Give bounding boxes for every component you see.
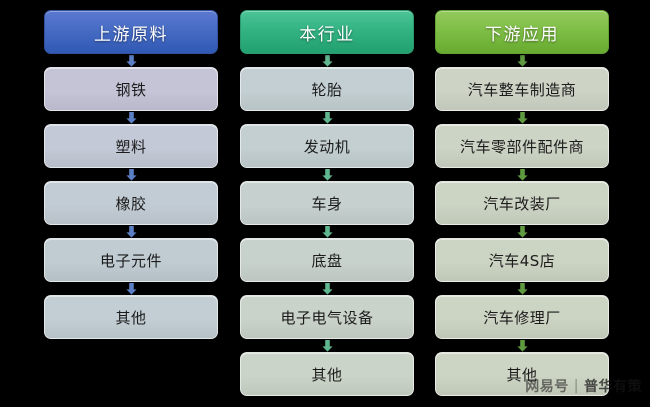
chain-node[interactable]: 汽车修理厂 bbox=[435, 295, 609, 339]
chain-node[interactable]: 电子电气设备 bbox=[240, 295, 414, 339]
chain-node-label: 汽车整车制造商 bbox=[468, 79, 577, 100]
flow-arrow-down-icon bbox=[240, 54, 414, 67]
flow-arrow-down-icon bbox=[44, 282, 218, 295]
chain-node-label: 发动机 bbox=[304, 136, 351, 157]
chain-node[interactable]: 汽车整车制造商 bbox=[435, 67, 609, 111]
chain-node[interactable]: 其他 bbox=[44, 295, 218, 339]
flow-arrow-down-icon bbox=[435, 54, 609, 67]
flow-arrow-down-icon bbox=[44, 111, 218, 124]
chain-node-label: 汽车修理厂 bbox=[483, 307, 561, 328]
flow-arrow-down-icon bbox=[240, 339, 414, 352]
column-header-label: 下游应用 bbox=[485, 20, 559, 45]
chain-node[interactable]: 电子元件 bbox=[44, 238, 218, 282]
chain-node-label: 汽车零部件配件商 bbox=[460, 136, 584, 157]
flow-arrow-down-icon bbox=[435, 225, 609, 238]
flow-arrow-down-icon bbox=[44, 54, 218, 67]
flow-arrow-down-icon bbox=[44, 168, 218, 181]
chain-node-label: 橡胶 bbox=[115, 193, 146, 214]
chain-column-industry: 本行业轮胎发动机车身底盘电子电气设备其他 bbox=[240, 0, 414, 396]
chain-node-label: 电子元件 bbox=[100, 250, 162, 271]
chain-node-label: 塑料 bbox=[115, 136, 146, 157]
flow-arrow-down-icon bbox=[240, 168, 414, 181]
chain-node[interactable]: 轮胎 bbox=[240, 67, 414, 111]
chain-node[interactable]: 塑料 bbox=[44, 124, 218, 168]
chain-node-label: 其他 bbox=[115, 307, 146, 328]
flow-arrow-down-icon bbox=[435, 111, 609, 124]
chain-node-label: 底盘 bbox=[311, 250, 342, 271]
chain-node[interactable]: 汽车零部件配件商 bbox=[435, 124, 609, 168]
flow-arrow-down-icon bbox=[44, 225, 218, 238]
chain-node-label: 汽车改装厂 bbox=[483, 193, 561, 214]
column-header-label: 本行业 bbox=[299, 20, 355, 45]
column-header-industry[interactable]: 本行业 bbox=[240, 10, 414, 54]
chain-node-label: 其他 bbox=[506, 364, 537, 385]
chain-node-label: 其他 bbox=[311, 364, 342, 385]
chain-node-label: 轮胎 bbox=[311, 79, 342, 100]
flow-arrow-down-icon bbox=[435, 168, 609, 181]
column-header-upstream[interactable]: 上游原料 bbox=[44, 10, 218, 54]
chain-node-label: 车身 bbox=[311, 193, 342, 214]
industry-chain-diagram: 上游原料钢铁塑料橡胶电子元件其他本行业轮胎发动机车身底盘电子电气设备其他下游应用… bbox=[0, 0, 650, 407]
chain-column-downstream: 下游应用汽车整车制造商汽车零部件配件商汽车改装厂汽车4S店汽车修理厂其他 bbox=[435, 0, 609, 396]
chain-node-label: 电子电气设备 bbox=[280, 307, 373, 328]
chain-column-upstream: 上游原料钢铁塑料橡胶电子元件其他 bbox=[44, 0, 218, 339]
chain-node[interactable]: 汽车4S店 bbox=[435, 238, 609, 282]
chain-node[interactable]: 发动机 bbox=[240, 124, 414, 168]
column-header-label: 上游原料 bbox=[94, 20, 168, 45]
chain-node[interactable]: 车身 bbox=[240, 181, 414, 225]
chain-node[interactable]: 其他 bbox=[435, 352, 609, 396]
flow-arrow-down-icon bbox=[240, 111, 414, 124]
column-header-downstream[interactable]: 下游应用 bbox=[435, 10, 609, 54]
chain-node[interactable]: 钢铁 bbox=[44, 67, 218, 111]
flow-arrow-down-icon bbox=[435, 282, 609, 295]
chain-node[interactable]: 橡胶 bbox=[44, 181, 218, 225]
chain-node[interactable]: 其他 bbox=[240, 352, 414, 396]
flow-arrow-down-icon bbox=[435, 339, 609, 352]
chain-node-label: 钢铁 bbox=[115, 79, 146, 100]
chain-node[interactable]: 底盘 bbox=[240, 238, 414, 282]
flow-arrow-down-icon bbox=[240, 225, 414, 238]
chain-node[interactable]: 汽车改装厂 bbox=[435, 181, 609, 225]
chain-node-label: 汽车4S店 bbox=[489, 250, 556, 271]
flow-arrow-down-icon bbox=[240, 282, 414, 295]
